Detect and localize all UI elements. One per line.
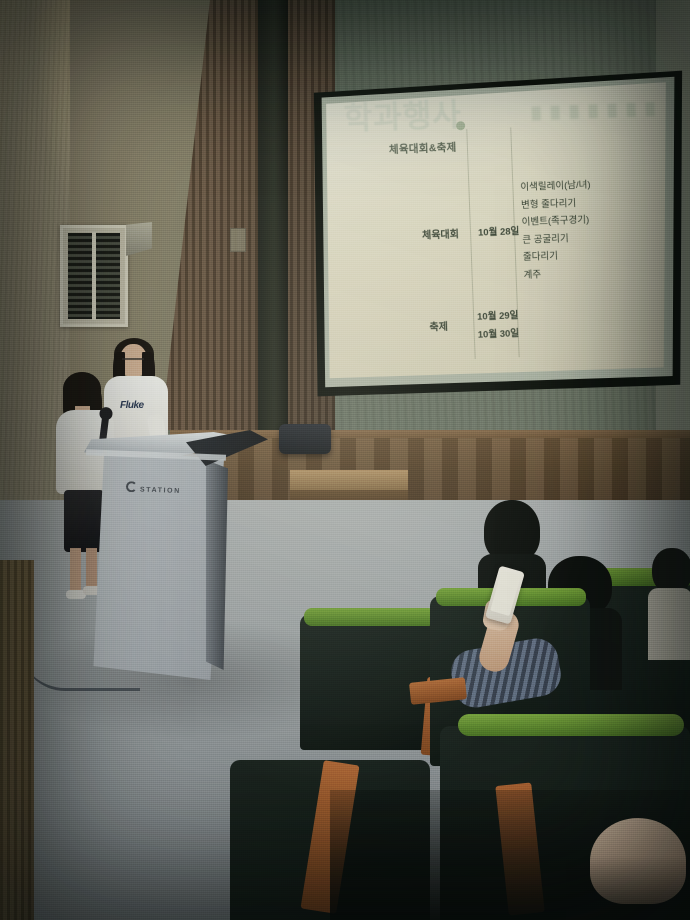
- lectern-brand-label: STATION: [126, 481, 181, 495]
- brand-mark-icon: [126, 481, 137, 492]
- head: [484, 500, 540, 562]
- stage-step-tread: [290, 470, 408, 492]
- smartphone-icon: [485, 565, 525, 624]
- table-row-items: 이색릴레이(남/녀) 변형 줄다리기 이벤트(족구경기) 큰 공굴리기 줄다리기…: [520, 177, 594, 285]
- slide-subtitle: 체육대회&축제: [389, 139, 457, 156]
- list-item: 이벤트(족구경기): [521, 212, 592, 232]
- table-row-date: 10월 29일 10월 30일: [477, 307, 520, 345]
- list-item: 계주: [523, 264, 594, 284]
- table-row-label: 체육대회: [422, 225, 459, 241]
- seat: [300, 600, 440, 750]
- stage-equipment-case: [279, 424, 331, 454]
- brand-text: STATION: [140, 487, 181, 495]
- wall-plate: [230, 228, 246, 252]
- dark-column: [258, 0, 288, 450]
- hvac-vent-grille: [60, 225, 128, 327]
- skirt: [64, 490, 104, 552]
- table-row-label: 축제: [429, 318, 448, 334]
- list-item: 이색릴레이(남/녀): [520, 177, 591, 197]
- foreground-wood-pillar: [0, 560, 34, 920]
- leg: [70, 548, 81, 596]
- seat-crest: [458, 714, 684, 736]
- table-divider: [466, 129, 475, 359]
- table-row-date: 10월 28일: [478, 223, 520, 239]
- audience-member: [648, 548, 690, 658]
- slide-content: 학과행사 체육대회&축제 체육대회 10월 28일 이색릴레이(남/녀) 변형 …: [322, 76, 670, 386]
- tshirt-graphic-text: Fluke: [120, 400, 144, 411]
- glasses-icon: [122, 358, 144, 365]
- seat-crest: [304, 608, 436, 626]
- foreground-dark-gradient: [566, 856, 690, 920]
- auditorium-photo: 학과행사 체육대회&축제 체육대회 10월 28일 이색릴레이(남/녀) 변형 …: [0, 0, 690, 920]
- vent-divider: [92, 232, 96, 320]
- torso: [648, 588, 690, 660]
- projection-screen: 학과행사 체육대회&축제 체육대회 10월 28일 이색릴레이(남/녀) 변형 …: [322, 76, 670, 386]
- slide-ghost-strip: [531, 102, 661, 121]
